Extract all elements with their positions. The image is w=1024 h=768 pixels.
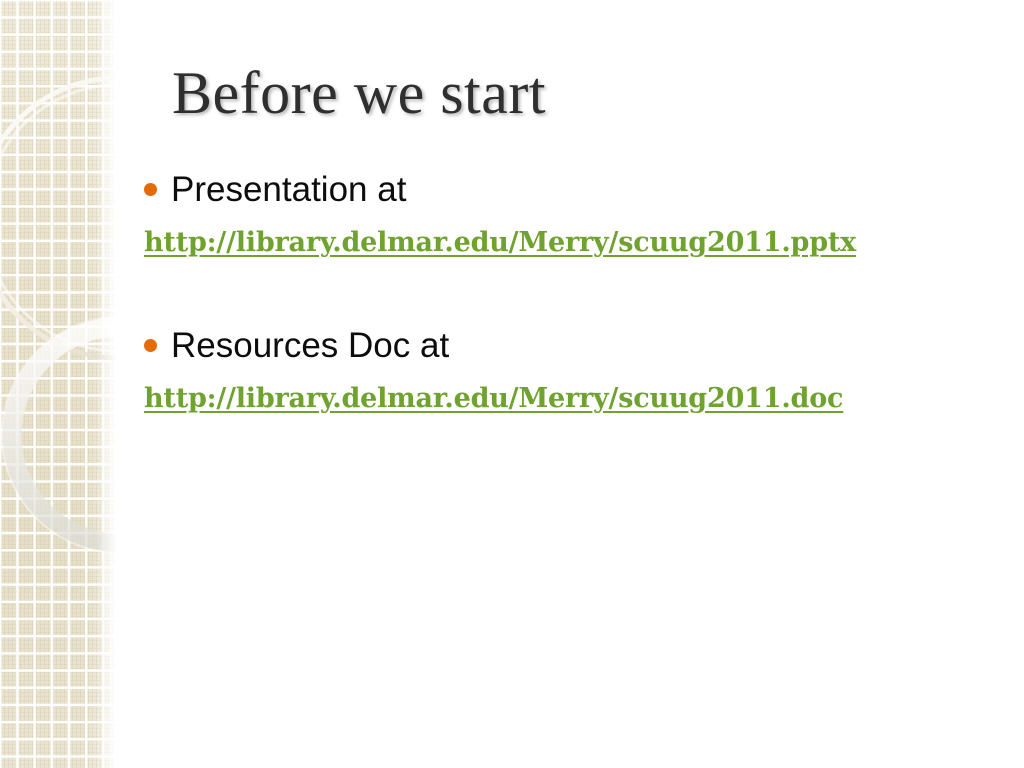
slide-decoration-sidebar: [0, 0, 122, 768]
bullet-dot-icon: [144, 183, 157, 196]
spacer-between-groups: [144, 258, 1004, 328]
bullet-label-presentation: Presentation at: [171, 172, 406, 209]
spacer-after-first-bullet: [144, 209, 1004, 227]
sidebar-right-fade: [96, 0, 122, 768]
spacer-after-second-bullet: [144, 365, 1004, 383]
bullet-item-presentation: Presentation at: [144, 172, 1004, 209]
link-resources-doc[interactable]: http://library.delmar.edu/Merry/scuug201…: [144, 383, 843, 414]
bullet-label-resources: Resources Doc at: [171, 328, 449, 365]
bullet-item-resources: Resources Doc at: [144, 328, 1004, 365]
slide-title: Before we start: [172, 59, 546, 128]
slide-body: Presentation at http://library.delmar.ed…: [144, 172, 1004, 414]
presentation-slide: Before we start Presentation at http://l…: [0, 0, 1024, 768]
link-presentation-pptx[interactable]: http://library.delmar.edu/Merry/scuug201…: [144, 227, 856, 258]
bullet-dot-icon: [144, 339, 157, 352]
